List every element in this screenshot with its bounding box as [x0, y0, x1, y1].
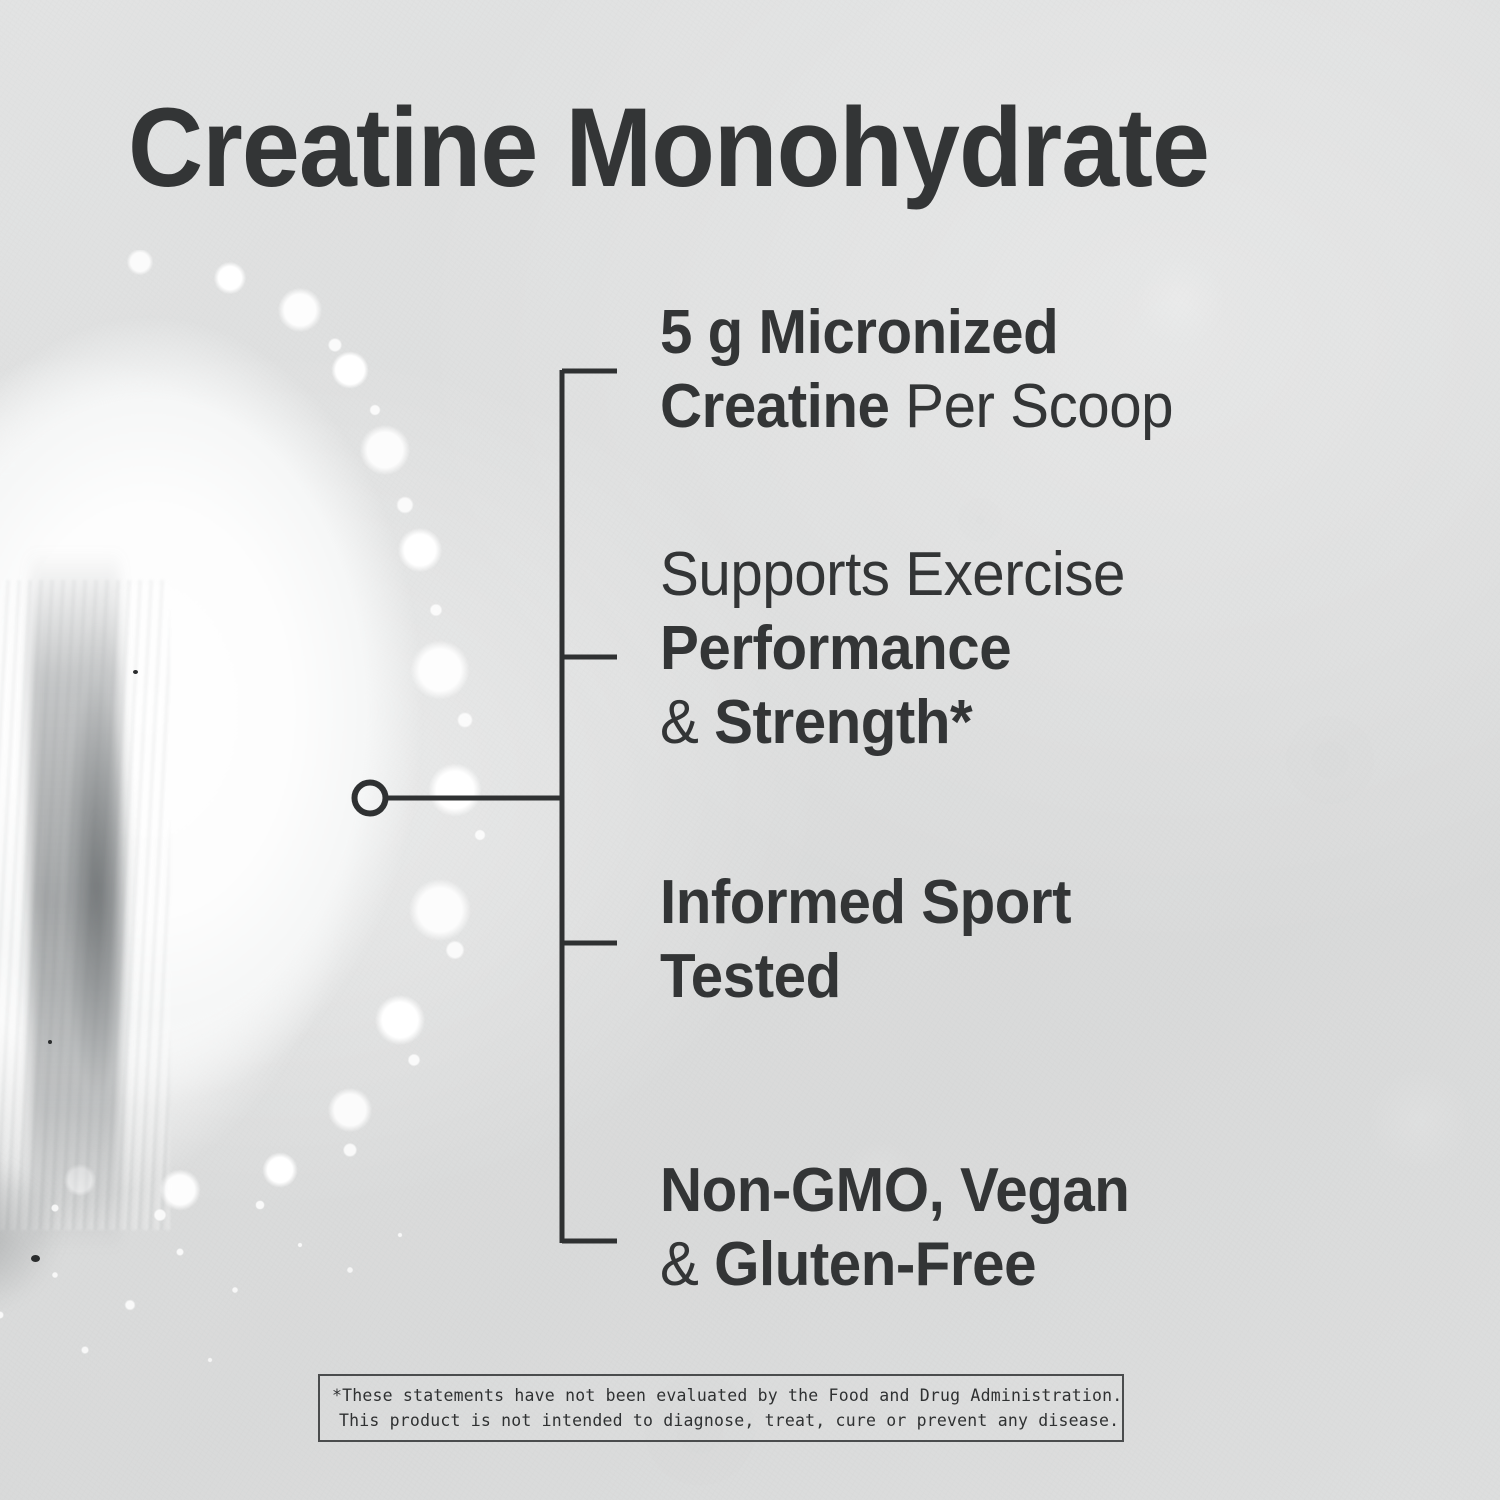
powder-dark-speck — [133, 670, 138, 674]
feature-item-dose: 5 g Micronized Creatine Per Scoop — [660, 296, 1173, 444]
powder-scattered-grains — [0, 250, 580, 1370]
page-title: Creatine Monohydrate — [128, 92, 1209, 204]
powder-dark-speck — [31, 1255, 40, 1262]
feature-text: Gluten-Free — [714, 1230, 1036, 1299]
feature-text: Per Scoop — [905, 372, 1173, 441]
feature-line: 5 g Micronized — [660, 296, 1173, 370]
feature-line: Non-GMO, Vegan — [660, 1154, 1129, 1228]
product-infographic: Creatine Monohydrate 5 g Micronized Crea… — [0, 0, 1500, 1500]
creatine-powder-photo — [0, 250, 580, 1270]
feature-text: Tested — [660, 942, 841, 1011]
feature-line: & Gluten-Free — [660, 1228, 1129, 1302]
disclaimer-line-2: This product is not intended to diagnose… — [332, 1408, 1110, 1433]
feature-text: Supports Exercise — [660, 540, 1125, 609]
feature-text: & — [660, 1230, 714, 1299]
feature-line: Creatine Per Scoop — [660, 370, 1173, 444]
feature-text: 5 g Micronized — [660, 298, 1058, 367]
feature-line: Informed Sport — [660, 866, 1071, 940]
feature-item-dietary: Non-GMO, Vegan & Gluten-Free — [660, 1154, 1129, 1302]
feature-text: Non-GMO, Vegan — [660, 1156, 1129, 1225]
disclaimer-line-1: *These statements have not been evaluate… — [332, 1383, 1110, 1408]
feature-line: Tested — [660, 940, 1071, 1014]
feature-item-informed-sport: Informed Sport Tested — [660, 866, 1071, 1014]
feature-line: Performance — [660, 612, 1125, 686]
powder-dark-speck — [48, 1040, 52, 1044]
feature-line: & Strength* — [660, 686, 1125, 760]
feature-text: Informed Sport — [660, 868, 1071, 937]
feature-line: Supports Exercise — [660, 538, 1125, 612]
feature-text: & — [660, 688, 714, 757]
feature-text: Creatine — [660, 372, 905, 441]
fda-disclaimer-box: *These statements have not been evaluate… — [318, 1374, 1124, 1442]
feature-text: Performance — [660, 614, 1011, 683]
feature-text: Strength* — [714, 688, 972, 757]
feature-item-performance: Supports Exercise Performance & Strength… — [660, 538, 1125, 760]
